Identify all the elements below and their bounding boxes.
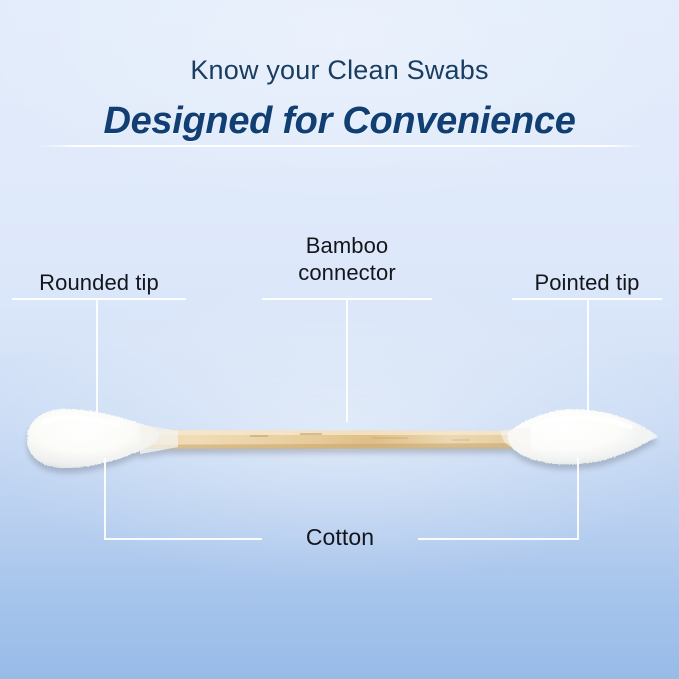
- callout-label-pointed-tip: Pointed tip: [512, 269, 662, 296]
- callout-bracket-cotton-left: [104, 538, 262, 540]
- callout-leader-cotton-right: [577, 458, 579, 540]
- callout-leader-rounded-tip: [96, 300, 98, 420]
- bamboo-stick: [96, 430, 540, 449]
- page-title: Designed for Convenience: [0, 102, 679, 140]
- callout-label-bamboo-line-2: connector: [247, 259, 447, 286]
- callout-label-cotton: Cotton: [264, 524, 416, 551]
- infographic-canvas: Know your Clean Swabs Designed for Conve…: [0, 0, 679, 679]
- pointed-cotton-tip: [508, 409, 654, 464]
- callout-leader-cotton-left: [104, 458, 106, 540]
- callout-leader-pointed-tip: [587, 300, 589, 420]
- callout-leader-bamboo-connector: [346, 300, 348, 422]
- rounded-cotton-tip: [27, 409, 160, 468]
- callout-underline-rounded-tip: [12, 298, 186, 300]
- eyebrow-text: Know your Clean Swabs: [0, 57, 679, 84]
- callout-bracket-cotton-right: [418, 538, 579, 540]
- header-divider: [38, 145, 645, 147]
- header: Know your Clean Swabs Designed for Conve…: [0, 0, 679, 140]
- callout-label-bamboo-connector: Bamboo connector: [247, 232, 447, 286]
- callout-label-rounded-tip: Rounded tip: [12, 269, 186, 296]
- callout-label-bamboo-line-1: Bamboo: [247, 232, 447, 259]
